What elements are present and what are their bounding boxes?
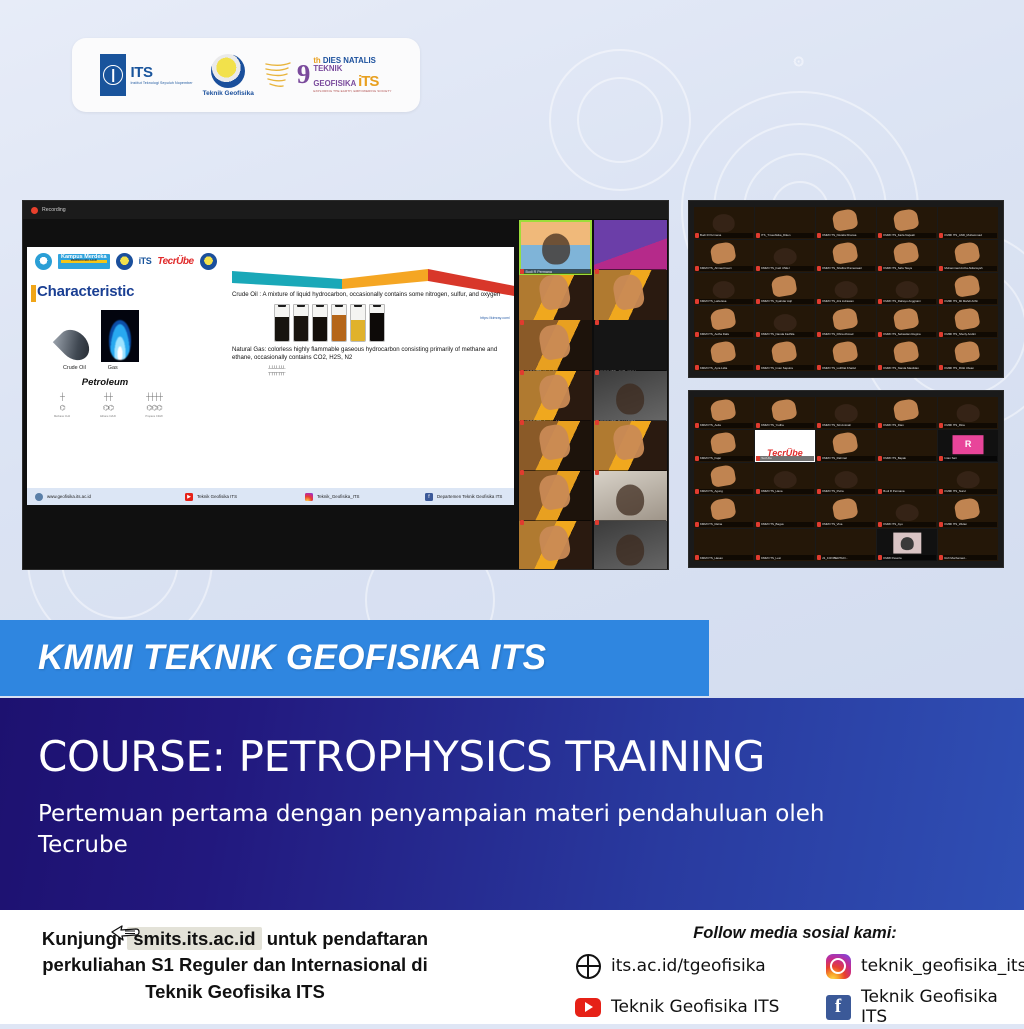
gallery-top-tile[interactable]: KMMI ITS_Ayra Lidia [694,339,754,371]
hand-gesture-overlay [537,323,572,362]
mic-muted-icon [939,332,943,337]
gallery-bottom-tile[interactable]: RIntan Sari [938,430,998,462]
gallery-top-name: KMMI ITS_Ayra Lidia [695,365,753,370]
mic-muted-icon [817,555,821,560]
mic-muted-icon [817,522,821,527]
participant-face [712,215,735,233]
gallery-top-name: KMMI ITS_Sebastian Regina [878,332,936,337]
gallery-top-tile[interactable]: KMMI ITS_Karla Najwah [877,207,937,239]
mic-muted-icon [817,365,821,370]
recording-label: Recording [42,207,66,213]
participant-tile[interactable]: Budi R Permana [519,220,592,275]
mic-muted-icon [939,489,943,494]
kampus-merdeka-logo: Kampus Merdeka MERDEKA BELAJAR [58,254,110,269]
gallery-bottom-name: KMMI ITS_Agung [695,489,753,494]
gallery-bottom-name: KMMI ITS_Nurul [939,489,997,494]
hand-gesture-overlay [831,208,858,231]
gallery-top-name: KMMI ITS_Syahdar Aqil [756,299,814,304]
participant-face [835,471,858,489]
gallery-top-name: KMMI ITS_Laila Esa [695,299,753,304]
gallery-top-tile[interactable]: KMMI ITS_dini indrawan [816,273,876,305]
banner-title: KMMI TEKNIK GEOFISIKA ITS [0,638,546,678]
gallery-bottom-name: KMMI ITS_Yudha [756,423,814,428]
gallery-top-tile[interactable]: KMMI ITS_Nisrafa Khansa [816,207,876,239]
gas-flame-image [101,310,139,362]
dies-line-3: GEOFISIKA [313,79,356,88]
gallery-bottom-name: KMMI ITS_Putra [817,489,875,494]
hand-gesture-overlay [954,340,981,363]
molecule-label-0: Methane CH4 [54,415,70,418]
tecrube-slide-logo: TecrÜbe [157,256,193,267]
slide-footer-facebook-text: Departemen Teknik Geofisika ITS [437,494,502,499]
social-youtube[interactable]: Teknik Geofisika ITS [575,987,825,1027]
social-website-label: its.ac.id/tgeofisika [611,956,766,976]
mic-muted-icon [817,489,821,494]
pointing-hand-icon [108,920,142,946]
gallery-bottom-tile[interactable]: KMMI ITS_Bagus [755,496,815,528]
teknik-geofisika-label: Teknik Geofisika [203,90,254,97]
social-website[interactable]: its.ac.id/tgeofisika [575,953,825,979]
gallery-top-name: KMMI ITS_Rahayu Anggraini [878,299,936,304]
participant-tile[interactable]: KMMI ITS_AND_MUH... [594,320,667,375]
participant-face [774,248,797,266]
mic-muted-icon [878,233,882,238]
hand-gesture-overlay [831,431,858,454]
gallery-bottom-name: KMMI ITS_Hana [756,489,814,494]
course-info-band: COURSE: PETROPHYSICS TRAINING Pertemuan … [0,698,1024,910]
gallery-top-tile[interactable]: KMMI ITS_Shafira Prameswari [816,240,876,272]
hand-gesture-overlay [709,464,736,487]
gear-globe-icon [211,54,245,88]
hand-gesture-overlay [709,241,736,264]
mic-muted-icon [878,299,882,304]
mic-muted-icon [595,370,599,375]
gallery-top-tile[interactable]: KMMI ITS_Nanda Maulidan [877,339,937,371]
gallery-bottom-name: KMMI ITS_Bapak [878,456,936,461]
participant-tile[interactable]: KMMI ITS_Fairi UNEJ [594,371,667,426]
gallery-top-tile[interactable]: KMMI ITS_Luthfiat Khairul [816,339,876,371]
globe-icon [35,493,43,501]
slide-footer-instagram-text: Teknik_Geofisika_ITS [317,494,359,499]
slide-footer-facebook: f Departemen Teknik Geofisika ITS [425,493,502,501]
hand-gesture-overlay [537,373,572,412]
facebook-icon: f [826,995,851,1020]
mic-muted-icon [817,266,821,271]
mic-muted-icon [756,555,760,560]
hand-gesture-overlay [892,241,919,264]
mic-muted-icon [695,555,699,560]
participant-tile[interactable]: KMMI ITS_Karla Naj... [519,320,592,375]
gallery-top-name: KMMI ITS_AND_Muhammad [939,233,997,238]
gallery-bottom-name: KMMI ITS_Dian [878,423,936,428]
course-title: COURSE: PETROPHYSICS TRAINING [38,732,984,781]
mic-muted-icon [520,470,524,475]
molecule-label-1: Ethane C2H6 [100,415,116,418]
mic-muted-icon [595,320,599,325]
mic-muted-icon [939,522,943,527]
gallery-top-name: KMMI ITS_Rizki Ulwan [939,365,997,370]
social-instagram[interactable]: teknik_geofisika_its [825,953,1024,979]
hand-gesture-overlay [892,398,919,421]
gallery-top-tile[interactable]: KMMI ITS_Mt Mahdi Arifin [938,273,998,305]
slide-right-column: Crude Oil : A mixture of liquid hydrocar… [232,291,512,376]
hand-gesture-overlay [709,497,736,520]
gallery-top-name: KMMI ITS_Sherly Andini [939,332,997,337]
slide-footer-website-text: www.geofisika.its.ac.id [47,494,91,499]
its-logo: ITS Institut Teknologi Sepuluh Nopember [100,54,192,96]
hand-gesture-overlay [537,272,572,311]
gallery-top-name: KMMI ITS_Karla Najwah [878,233,936,238]
mic-muted-icon [817,233,821,238]
participant-tile[interactable]: KMMI ITS_dini indra... [594,521,667,570]
mic-muted-icon [817,423,821,428]
participant-tile[interactable]: KMMI ITS_LN2 Alifi... [519,270,592,325]
wing-icon [264,58,294,92]
gallery-grid-top[interactable]: Budi R PermanaITS_T.Geofisika_DikenKMMI … [694,207,998,371]
mic-muted-icon [595,269,599,274]
participant-face [774,314,797,332]
mic-muted-icon [939,266,943,271]
zoom-meeting-screenshot-main: Recording Kampus Merdeka MERDEKA BELAJAR [22,200,669,570]
crude-oil-droplet-icon [53,324,95,366]
gallery-bottom-name: TecrÜbe [756,456,814,461]
gallery-top-name: KMMI ITS_Fairi UNEJ [756,266,814,271]
mic-muted-icon [939,423,943,428]
participant-tile[interactable]: KMMI ITS_Safa Tasya... [594,421,667,476]
social-facebook-label: Teknik Geofisika ITS [861,987,1024,1027]
mic-muted-icon [520,370,524,375]
its-logo-subtitle: Institut Teknologi Sepuluh Nopember [130,82,192,86]
participant-tile[interactable]: KMMI ITS_Shafira Prig... [519,421,592,476]
gallery-bottom-tile[interactable]: Budi R Permana [877,463,937,495]
mic-muted-icon [595,520,599,525]
gallery-top-tile[interactable]: KMMI ITS_Autha Dafa [694,306,754,338]
participant-tile[interactable]: KMMI ITS_Nisrafa Kh... [594,270,667,325]
recording-indicator-icon [31,207,38,214]
slide-footer-youtube-text: Teknik Geofisika ITS [197,494,237,499]
mic-muted-icon [695,489,699,494]
gallery-bottom-name: KMMI Peserta [878,555,936,560]
mic-muted-icon [695,299,699,304]
gallery-bottom-name: KMMI ITS_Hasan [695,555,753,560]
heading-accent-bar [31,285,36,302]
participant-tile[interactable]: KMMI ITS_Syahdar A... [519,521,592,570]
hand-gesture-overlay [612,423,647,462]
page-footer: Kunjungi smits.its.ac.id untuk pendaftar… [0,910,1024,1024]
mic-muted-icon [878,266,882,271]
hand-gesture-overlay [954,274,981,297]
hand-gesture-overlay [537,523,572,562]
participant-face [896,504,919,522]
gallery-top-tile[interactable]: KMMI ITS_Iman Saputra [755,339,815,371]
follow-title: Follow media sosial kami: [575,924,1015,943]
mic-muted-icon [595,470,599,475]
mic-muted-icon [695,332,699,337]
gallery-bottom-name: KMMI ITS_Rina [939,423,997,428]
mic-muted-icon [878,456,882,461]
hand-gesture-overlay [709,340,736,363]
gallery-top-name: KMMI ITS_Iman Saputra [756,365,814,370]
gallery-bottom-tile[interactable]: KMMI ITS_Putra [816,463,876,495]
its-logo-title: ITS [130,64,152,81]
gallery-bottom-name: KMMI ITS_Vina [817,522,875,527]
mic-muted-icon [756,489,760,494]
participant-face [617,384,645,415]
dies-ordinal: 9 [297,61,311,88]
participant-face [542,233,570,264]
gallery-bottom-tile[interactable]: KMMI ITS_Ayu [877,496,937,528]
mic-muted-icon [595,420,599,425]
header-logo-bar: ITS Institut Teknologi Sepuluh Nopember … [72,38,420,112]
slide-heading: Characteristic [37,283,217,300]
hand-gesture-overlay [831,307,858,330]
participant-face [896,281,919,299]
dies-tagline: EXPLORING THE EARTH, EMPOWERING SOCIETY [313,90,391,93]
gallery-bottom-name: KMMI ITS_Wulan [939,522,997,527]
mic-muted-icon [756,423,760,428]
gallery-top-tile[interactable]: KMMI ITS_Fairi UNEJ [755,240,815,272]
social-instagram-label: teknik_geofisika_its [861,956,1024,976]
gallery-bottom-tile[interactable]: KMMI Peserta [877,529,937,561]
hand-gesture-overlay [954,241,981,264]
hand-gesture-overlay [709,398,736,421]
gallery-top-tile[interactable]: KMMI ITS_Rizki Ulwan [938,339,998,371]
visit-line-2: perkuliahan S1 Reguler dan Internasional… [42,954,428,975]
participant-tile[interactable]: KMMI ITS_Laila Esa_I... [594,471,667,526]
dies-natalis-logo: 9 th DIES NATALIS TEKNIK GEOFISIKA iTS E… [264,57,392,93]
gallery-bottom-tile[interactable]: KMMI ITS_Nurul [938,463,998,495]
hand-gesture-overlay [709,307,736,330]
molecule-label-2: Propane C3H8 [145,415,162,418]
gallery-bottom-name: KMMI ITS_Lesi [756,555,814,560]
its-emblem-icon [103,65,123,85]
gallery-top-tile[interactable]: Budi R Permana [694,207,754,239]
zoom-toolbar: Recording [23,201,668,219]
hand-gesture-overlay [892,340,919,363]
gallery-top-tile[interactable]: ITS_T.Geofisika_Diken [755,207,815,239]
teknik-geofisika-logo: Teknik Geofisika [203,54,254,97]
mic-muted-icon [756,456,760,461]
natural-gas-description: Natural Gas: colorless highly flammable … [232,346,512,362]
participant-face [617,484,645,515]
slide-footer-bar: www.geofisika.its.ac.id ▶ Teknik Geofisi… [27,488,514,505]
participant-name: Budi R Permana [520,269,591,274]
gallery-bottom-name: Intan Sari [939,456,997,461]
molecule-diagrams: ┼⌬Methane CH4 ┼┼⌬⌬Ethane C2H6 ┼┼┼┼⌬⌬⌬Pro… [37,394,217,436]
gallery-bottom-name: 21_F.ROBERTHO... [817,555,875,560]
gallery-top-name: KMMI ITS_Mt Mahdi Arifin [939,299,997,304]
visit-line-3: Teknik Geofisika ITS [145,981,325,1002]
mic-muted-icon [878,332,882,337]
participant-video-strip[interactable]: Budi R PermanaITS_T.Geofisika_DikenKMMI … [518,219,668,570]
program-banner: KMMI TEKNIK GEOFISIKA ITS [0,620,709,696]
gallery-bottom-tile[interactable]: KMMI ITS_Rahmat [816,430,876,462]
mic-muted-icon [878,365,882,370]
gallery-bottom-tile[interactable]: KMMI ITS_Wulan [938,496,998,528]
gallery-bottom-tile[interactable]: KMMI ITS_Rina [938,397,998,429]
gallery-top-name: Budi R Permana [695,233,753,238]
gallery-bottom-tile[interactable]: KMMI ITS_Ratna [694,496,754,528]
caption-gas: Gas [108,365,118,371]
registration-url[interactable]: smits.its.ac.id [127,927,261,950]
registration-info: Kunjungi smits.its.ac.id untuk pendaftar… [0,926,470,1005]
gallery-bottom-tile[interactable]: KMMI ITS_Hasan [694,529,754,561]
gallery-top-name: KMMI ITS_Safa Tasya [878,266,936,271]
slide-left-column: Characteristic Crude Oil Gas Petroleum ┼… [37,283,217,436]
gallery-bottom-name: KMMI ITS_Ratna [695,522,753,527]
gallery-top-tile[interactable]: KMMI ITS_Syahdar Aqil [755,273,815,305]
gallery-top-name: KMMI ITS_Autha Dafa [695,332,753,337]
participant-face [957,471,980,489]
hand-gesture-overlay [892,307,919,330]
slide-footer-website: www.geofisika.its.ac.id [35,493,185,501]
initial-avatar: R [953,435,984,455]
mic-muted-icon [939,456,943,461]
mic-muted-icon [695,266,699,271]
gallery-top-name: ITS_T.Geofisika_Diken [756,233,814,238]
hand-gesture-overlay [612,272,647,311]
caption-crude-oil: Crude Oil [63,365,86,371]
tecrube-logo-tile: TecrÜbe [755,430,815,458]
hand-gesture-overlay [537,473,572,512]
mic-muted-icon [878,555,882,560]
gallery-top-tile[interactable]: KMMI ITS_Nanda Fadhila [755,306,815,338]
mic-muted-icon [756,365,760,370]
dies-line-2: TEKNIK [313,65,391,73]
hand-gesture-overlay [770,398,797,421]
gallery-top-tile[interactable]: KMMI ITS_Sherly Andini [938,306,998,338]
gallery-bottom-tile[interactable]: KMMI ITS_Bapak [877,430,937,462]
gallery-bottom-tile[interactable]: KMMI ITS_Aulia [694,397,754,429]
gallery-bottom-tile[interactable]: KMMI ITS_Hana [755,463,815,495]
mic-muted-icon [939,299,943,304]
hand-gesture-overlay [770,274,797,297]
kampus-merdeka-strip: MERDEKA BELAJAR [61,260,107,263]
gallery-top-tile[interactable]: KMMI ITS_Ahmad Fauzi [694,240,754,272]
participant-tile[interactable]: KMMI ITS_Annisa Afi... [519,371,592,426]
participant-face [617,535,645,566]
mic-muted-icon [520,320,524,325]
gallery-top-name: KMMI ITS_Shafira Prameswari [817,266,875,271]
mic-muted-icon [695,423,699,428]
slide-footer-instagram: Teknik_Geofisika_ITS [305,493,425,501]
gallery-bottom-tile[interactable]: KMMI ITS_Yudha [755,397,815,429]
participant-face [835,405,858,423]
gallery-bottom-tile[interactable]: KMMI ITS_Lesi [755,529,815,561]
social-media-section: Follow media sosial kami: its.ac.id/tgeo… [575,924,1015,1027]
source-link: https://kimray.com/ [480,316,510,320]
gallery-top-name: KMMI ITS_Nanda Fadhila [756,332,814,337]
gallery-bottom-name: KMMI ITS_Bagus [756,522,814,527]
kemdikbud-logo [35,253,52,270]
hand-gesture-overlay [537,423,572,462]
mic-muted-icon [878,423,882,428]
gallery-bottom-name: KMMI ITS_Ayu [878,522,936,527]
gallery-bottom-tile[interactable]: Rofi Muchamad... [938,529,998,561]
hand-gesture-overlay [954,497,981,520]
gallery-bottom-tile[interactable]: KMMI ITS_Vina [816,496,876,528]
mic-muted-icon [939,233,943,238]
gallery-top-tile[interactable]: KMMI ITS_Sebastian Regina [877,306,937,338]
hand-gesture-overlay [831,340,858,363]
registration-text: Kunjungi smits.its.ac.id untuk pendaftar… [0,926,470,1005]
gallery-top-name: KMMI ITS_Nisrafa Khansa [817,233,875,238]
hand-gesture-overlay [831,241,858,264]
hand-gesture-overlay [709,431,736,454]
gallery-bottom-tile[interactable]: KMMI ITS_Siti Aminah [816,397,876,429]
its-slide-text: iTS [139,256,152,266]
mic-muted-icon [756,522,760,527]
gallery-top-tile[interactable]: Muhammad Archa Aldiansyah [938,240,998,272]
gallery-top-tile[interactable]: KMMI ITS_Rahayu Anggraini [877,273,937,305]
globe-icon [576,954,601,979]
mic-muted-icon [695,456,699,461]
gallery-bottom-tile[interactable]: 21_F.ROBERTHO... [816,529,876,561]
participant-face [835,281,858,299]
gallery-top-tile[interactable]: KMMI ITS_Laila Esa [694,273,754,305]
gallery-grid-bottom[interactable]: KMMI ITS_AuliaKMMI ITS_YudhaKMMI ITS_Sit… [694,397,998,561]
instagram-icon [305,493,313,501]
gallery-bottom-name: KMMI ITS_Rahmat [817,456,875,461]
course-subtitle: Pertemuan pertama dengan penyampaian mat… [38,799,918,861]
gallery-bottom-name: KMMI ITS_Fajar [695,456,753,461]
participant-face [712,281,735,299]
hand-gesture-overlay [892,208,919,231]
default-avatar [893,533,920,554]
mic-muted-icon [817,456,821,461]
youtube-icon [575,998,601,1017]
gallery-top-name: KMMI ITS_Luthfiat Khairul [817,365,875,370]
instagram-icon [826,954,851,979]
hand-gesture-overlay [770,340,797,363]
participant-face [774,471,797,489]
visit-suffix: untuk pendaftaran [267,928,428,949]
teknik-geofisika-slide-logo [200,253,217,270]
gallery-top-tile[interactable]: KMMI ITS_Safa Tasya [877,240,937,272]
mic-muted-icon [939,365,943,370]
mic-muted-icon [878,489,882,494]
hand-gesture-overlay [954,307,981,330]
gallery-bottom-tile[interactable]: KMMI ITS_Agung [694,463,754,495]
mic-muted-icon [695,233,699,238]
mic-muted-icon [695,365,699,370]
zoom-gallery-screenshot-top: Budi R PermanaITS_T.Geofisika_DikenKMMI … [688,200,1004,378]
mic-muted-icon [756,332,760,337]
gallery-bottom-tile[interactable]: KMMI ITS_Fajar [694,430,754,462]
gallery-top-tile[interactable]: KMMI ITS_Dhira Ahmad [816,306,876,338]
gallery-bottom-name: Rofi Muchamad... [939,555,997,560]
participant-face [957,405,980,423]
mic-muted-icon [756,299,760,304]
participant-tile[interactable]: Muhammad Archa A... [519,471,592,526]
gas-chain-diagram: ┴┴┴┴┴┴┴┬┬┬┬┬┬┬ [268,367,512,376]
mic-muted-icon [695,522,699,527]
gallery-bottom-tile[interactable]: KMMI ITS_Dian [877,397,937,429]
social-facebook[interactable]: f Teknik Geofisika ITS [825,987,1024,1027]
social-youtube-label: Teknik Geofisika ITS [611,997,779,1017]
slide-footer-youtube: ▶ Teknik Geofisika ITS [185,493,305,501]
participant-tile[interactable]: ITS_T.Geofisika_Diken [594,220,667,275]
gallery-bottom-name: KMMI ITS_Siti Aminah [817,423,875,428]
gallery-bottom-tile[interactable]: TecrÜbeTecrÜbe [755,430,815,462]
dies-its-brand: iTS [358,73,378,90]
gallery-top-name: KMMI ITS_dini indrawan [817,299,875,304]
mic-muted-icon [817,299,821,304]
gallery-top-tile[interactable]: KMMI ITS_AND_Muhammad [938,207,998,239]
gallery-top-name: KMMI ITS_Dhira Ahmad [817,332,875,337]
its-emblem-block [100,54,126,96]
gallery-bottom-name: KMMI ITS_Aulia [695,423,753,428]
